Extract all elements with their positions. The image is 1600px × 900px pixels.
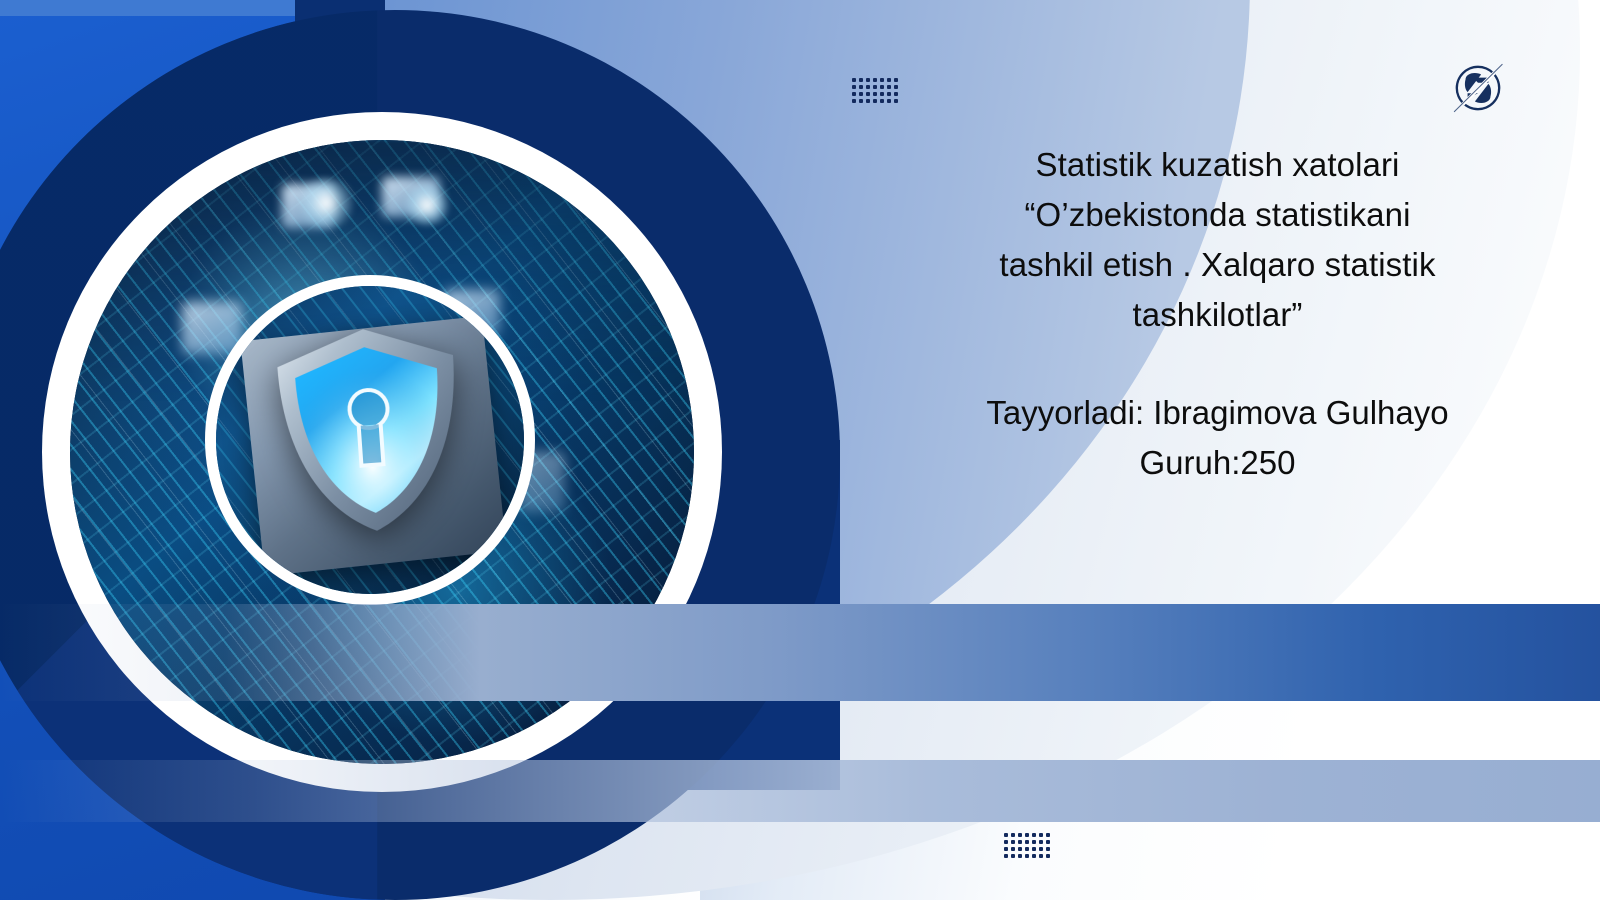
inner-white-ring xyxy=(205,275,535,605)
dot xyxy=(1011,847,1015,851)
decorative-band-light xyxy=(0,760,1600,822)
shield-scene-background xyxy=(206,276,534,604)
dot xyxy=(880,78,884,82)
dot xyxy=(1039,840,1043,844)
shield-with-keyhole-icon xyxy=(268,319,472,542)
dot xyxy=(1004,847,1008,851)
dot xyxy=(873,78,877,82)
dot xyxy=(1018,854,1022,858)
dot xyxy=(1039,854,1043,858)
dot xyxy=(887,92,891,96)
dot xyxy=(1025,840,1029,844)
dot xyxy=(1046,833,1050,837)
presentation-slide: Statistik kuzatish xatolari “O’zbekiston… xyxy=(0,0,1600,900)
dot xyxy=(1004,854,1008,858)
dot xyxy=(859,92,863,96)
dot xyxy=(887,78,891,82)
dot xyxy=(1025,847,1029,851)
dot xyxy=(866,78,870,82)
dot xyxy=(1018,847,1022,851)
dot xyxy=(1018,833,1022,837)
dot xyxy=(1032,840,1036,844)
decorative-band-dark xyxy=(0,604,1600,701)
dot xyxy=(1039,833,1043,837)
dot xyxy=(873,92,877,96)
dot xyxy=(1032,833,1036,837)
dot xyxy=(1011,840,1015,844)
dot xyxy=(859,99,863,103)
dot xyxy=(1018,840,1022,844)
dot xyxy=(852,85,856,89)
dot xyxy=(880,99,884,103)
dot xyxy=(1004,840,1008,844)
dot xyxy=(1011,833,1015,837)
dot xyxy=(1025,854,1029,858)
dot xyxy=(873,99,877,103)
dot xyxy=(859,78,863,82)
dot xyxy=(1046,854,1050,858)
dot-grid-bottom xyxy=(1004,833,1053,861)
dot xyxy=(887,85,891,89)
dot xyxy=(887,99,891,103)
dot xyxy=(866,99,870,103)
dot xyxy=(866,85,870,89)
dot xyxy=(880,92,884,96)
dot xyxy=(880,85,884,89)
photo-highlight-glow xyxy=(401,184,453,226)
dot xyxy=(1025,833,1029,837)
dot xyxy=(873,85,877,89)
dot-grid-top xyxy=(852,78,901,106)
organization-logo-icon[interactable] xyxy=(1452,62,1504,114)
dot xyxy=(1032,854,1036,858)
dot xyxy=(859,85,863,89)
dot xyxy=(1039,847,1043,851)
dot xyxy=(1046,840,1050,844)
dot xyxy=(894,92,898,96)
dot xyxy=(894,85,898,89)
photo-highlight-glow xyxy=(295,177,357,229)
dot xyxy=(1032,847,1036,851)
dot xyxy=(852,92,856,96)
slide-title: Statistik kuzatish xatolari “O’zbekiston… xyxy=(930,140,1505,340)
dot xyxy=(1004,833,1008,837)
dot xyxy=(894,99,898,103)
dot xyxy=(1046,847,1050,851)
dot xyxy=(852,99,856,103)
dot xyxy=(1011,854,1015,858)
slide-text-block: Statistik kuzatish xatolari “O’zbekiston… xyxy=(930,140,1505,488)
dot xyxy=(894,78,898,82)
dot xyxy=(852,78,856,82)
slide-author: Tayyorladi: Ibragimova Gulhayo Guruh:250 xyxy=(930,388,1505,488)
dot xyxy=(866,92,870,96)
